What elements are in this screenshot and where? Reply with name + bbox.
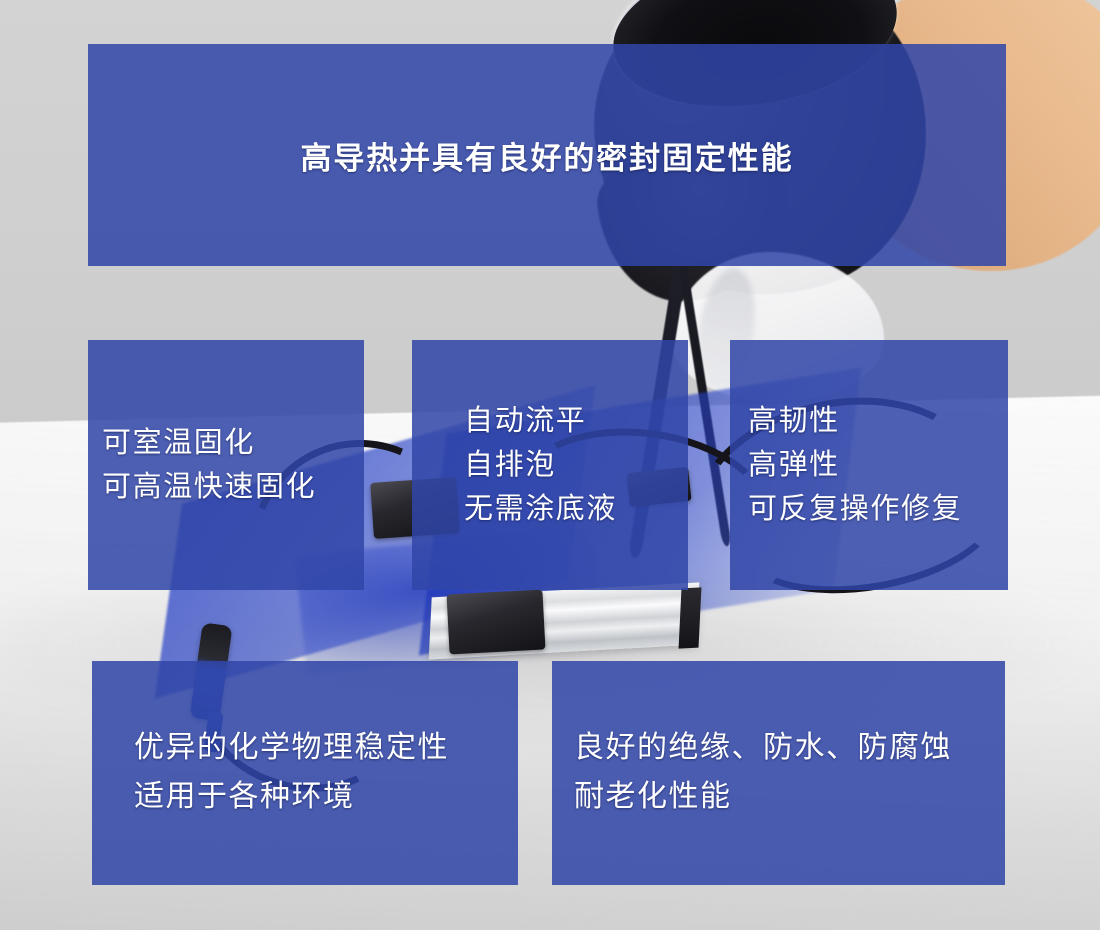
product-feature-poster: 高导热并具有良好的密封固定性能 可室温固化 可高温快速固化 自动流平 自排泡 无…: [0, 0, 1100, 930]
led-driver-end-cap: [679, 587, 702, 648]
headline-banner: 高导热并具有良好的密封固定性能: [88, 44, 1006, 266]
feature-panel-elastic: 高韧性 高弹性 可反复操作修复: [730, 340, 1008, 590]
feature-line: 自动流平: [464, 399, 688, 443]
feature-panel-cure: 可室温固化 可高温快速固化: [88, 340, 364, 590]
feature-line: 可高温快速固化: [102, 465, 364, 509]
feature-line: 高韧性: [748, 399, 1008, 443]
feature-line: 高弹性: [748, 443, 1008, 487]
feature-line: 可室温固化: [102, 421, 364, 465]
connector-icon: [446, 590, 545, 655]
feature-line: 优异的化学物理稳定性: [134, 724, 518, 773]
feature-line: 良好的绝缘、防水、防腐蚀: [574, 724, 1005, 773]
feature-line: 可反复操作修复: [748, 487, 1008, 531]
feature-line: 无需涂底液: [464, 487, 688, 531]
headline-text: 高导热并具有良好的密封固定性能: [301, 133, 794, 178]
feature-panel-flow: 自动流平 自排泡 无需涂底液: [412, 340, 688, 590]
feature-panel-insulation: 良好的绝缘、防水、防腐蚀 耐老化性能: [552, 661, 1005, 885]
feature-panel-stability: 优异的化学物理稳定性 适用于各种环境: [92, 661, 518, 885]
feature-line: 适用于各种环境: [134, 773, 518, 822]
feature-line: 自排泡: [464, 443, 688, 487]
feature-line: 耐老化性能: [574, 773, 1005, 822]
